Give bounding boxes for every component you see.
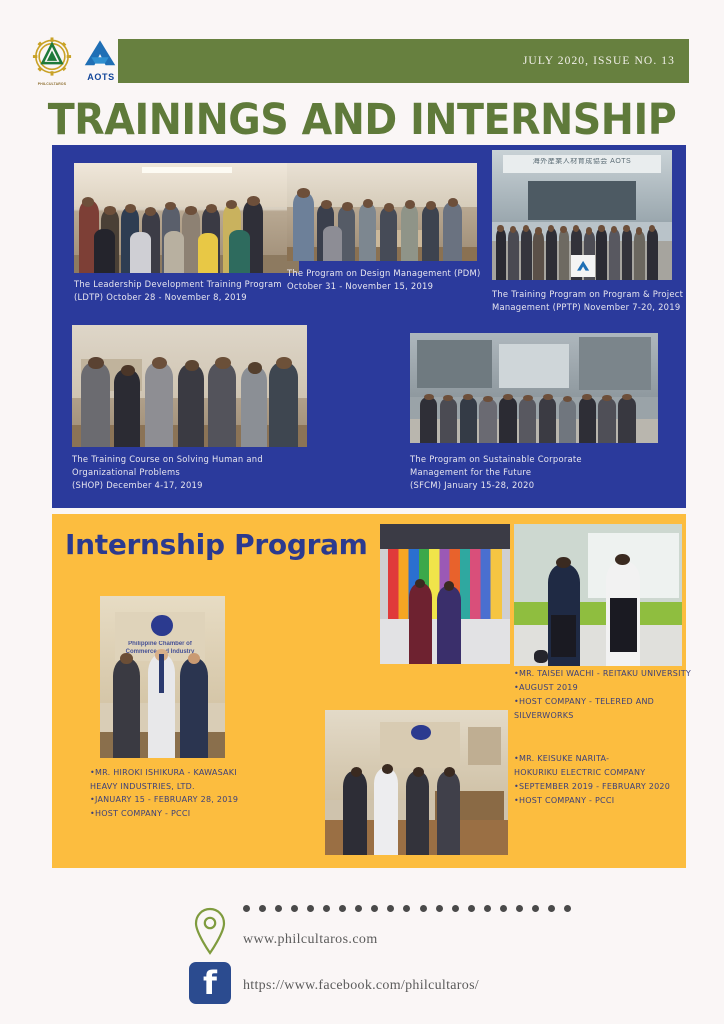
facebook-link[interactable]: https://www.facebook.com/philcultaros/ (243, 978, 479, 994)
divider-dot (532, 905, 539, 912)
photo-people (514, 524, 682, 666)
divider-dot (387, 905, 394, 912)
photo-wachi-mosaic (380, 524, 510, 664)
photo-people (72, 325, 307, 447)
divider-dot (275, 905, 282, 912)
photo-pptp-group: 海外産業人材育成協会 AOTS (492, 150, 672, 280)
photo-sfcm-group (410, 333, 658, 443)
photo-ldtp-group (74, 163, 299, 273)
caption-narita: •MR. KEISUKE NARITA- HOKURIKU ELECTRIC C… (514, 752, 724, 808)
divider-dot (420, 905, 427, 912)
caption-ldtp: The Leadership Development Training Prog… (74, 278, 314, 304)
photo-people (325, 710, 508, 855)
divider-dot (500, 905, 507, 912)
divider-dot (436, 905, 443, 912)
internship-panel: Internship Program Philippine Chamber of… (52, 514, 686, 868)
photo-pdm-group (287, 163, 477, 261)
header-bar: JULY 2020, ISSUE NO. 13 (118, 39, 689, 83)
divider-dot (371, 905, 378, 912)
divider-dot (548, 905, 555, 912)
aots-logo-caption: AOTS (80, 72, 122, 82)
website-link[interactable]: www.philcultaros.com (243, 932, 378, 948)
philcultaros-gear-icon (30, 36, 74, 80)
philcultaros-logo-caption: PHILCULTAROS (30, 82, 74, 86)
page-title: TRAININGS AND INTERNSHIP (29, 95, 695, 145)
photo-people (380, 524, 510, 664)
facebook-glyph: f (189, 962, 231, 1004)
caption-sfcm: The Program on Sustainable Corporate Man… (410, 453, 660, 492)
divider-dot (307, 905, 314, 912)
divider-dot (355, 905, 362, 912)
internship-heading: Internship Program (65, 528, 368, 561)
philcultaros-logo: PHILCULTAROS (30, 36, 74, 86)
issue-label: JULY 2020, ISSUE NO. 13 (523, 55, 675, 67)
aots-banner-icon (575, 259, 591, 273)
divider-dot (484, 905, 491, 912)
divider-dot (516, 905, 523, 912)
divider-dot (291, 905, 298, 912)
photo-ishikura-pcci: Philippine Chamber ofCommerce and Indust… (100, 596, 225, 758)
photo-people (74, 163, 299, 273)
photo-people (287, 163, 477, 261)
divider-dot (403, 905, 410, 912)
photo-people (410, 333, 658, 443)
caption-pptp: The Training Program on Program & Projec… (492, 288, 707, 314)
photo-wachi-presentation (514, 524, 682, 666)
caption-pdm: The Program on Design Management (PDM) O… (287, 267, 492, 293)
photo-shop-group (72, 325, 307, 447)
facebook-icon[interactable]: f (189, 962, 231, 1004)
caption-ishikura: •MR. HIROKI ISHIKURA - KAWASAKI HEAVY IN… (90, 766, 290, 820)
trainings-panel: The Leadership Development Training Prog… (52, 145, 686, 508)
dot-divider (243, 903, 571, 913)
logo-group: PHILCULTAROS AOTS (30, 36, 124, 86)
divider-dot (243, 905, 250, 912)
divider-dot (468, 905, 475, 912)
aots-logo: AOTS (80, 38, 122, 84)
divider-dot (564, 905, 571, 912)
photo-people (100, 596, 225, 758)
photo-narita-pcci (325, 710, 508, 855)
divider-dot (323, 905, 330, 912)
caption-shop: The Training Course on Solving Human and… (72, 453, 322, 492)
divider-dot (339, 905, 346, 912)
divider-dot (452, 905, 459, 912)
newsletter-page: JULY 2020, ISSUE NO. 13 PH (0, 0, 724, 1024)
aots-triangle-icon (80, 38, 120, 70)
divider-dot (259, 905, 266, 912)
caption-wachi: •MR. TAISEI WACHI - REITAKU UNIVERSITY •… (514, 667, 724, 723)
location-pin-icon (192, 906, 228, 956)
